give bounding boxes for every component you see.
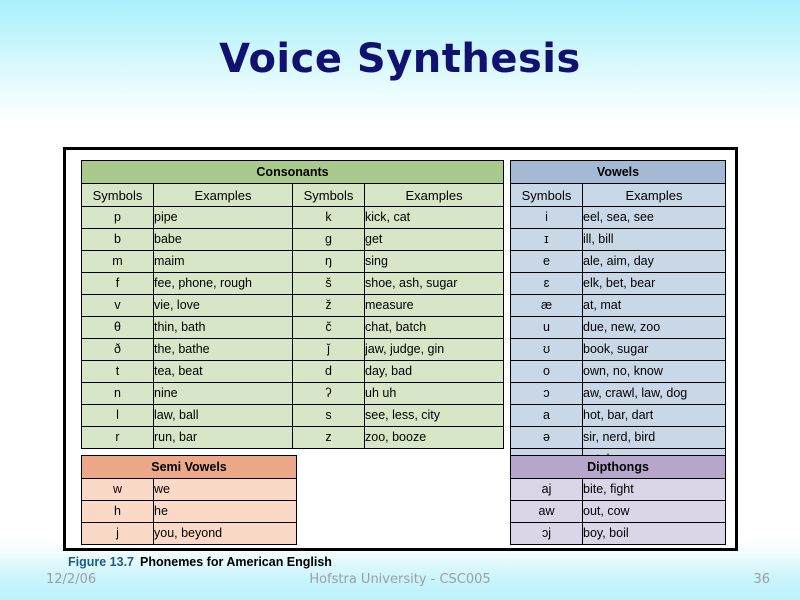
phoneme-examples: he	[154, 501, 297, 523]
consonants-row: llaw, ballssee, less, city	[82, 405, 504, 427]
vowels-row: ʊbook, sugar	[511, 339, 726, 361]
dipthongs-row: ɔjboy, boil	[511, 523, 726, 545]
phoneme-symbol: ǰ	[293, 339, 365, 361]
phoneme-examples: measure	[365, 295, 504, 317]
phoneme-examples: pipe	[154, 207, 293, 229]
dipthongs-row: awout, cow	[511, 501, 726, 523]
phoneme-examples: nine	[154, 383, 293, 405]
phoneme-examples: you, beyond	[154, 523, 297, 545]
phoneme-symbol: u	[511, 317, 583, 339]
phoneme-symbol: k	[293, 207, 365, 229]
semi-vowels-table: Semi Vowels wwehhejyou, beyond	[81, 455, 297, 545]
phoneme-symbol: h	[82, 501, 154, 523]
phoneme-symbol: s	[293, 405, 365, 427]
dipthongs-table: Dipthongs ajbite, fightawout, cowɔjboy, …	[510, 455, 726, 545]
phoneme-symbol: t	[82, 361, 154, 383]
phoneme-symbol: w	[82, 479, 154, 501]
vowels-row: ieel, sea, see	[511, 207, 726, 229]
vowels-row: æat, mat	[511, 295, 726, 317]
consonants-col-symbols-1: Symbols	[82, 184, 154, 207]
phoneme-symbol: n	[82, 383, 154, 405]
page-title: Voice Synthesis	[0, 36, 800, 82]
consonants-table-body: Consonants Symbols Examples Symbols Exam…	[82, 161, 504, 449]
phoneme-symbol: g	[293, 229, 365, 251]
phoneme-symbol: d	[293, 361, 365, 383]
phoneme-symbol: ð	[82, 339, 154, 361]
phoneme-examples: thin, bath	[154, 317, 293, 339]
phoneme-examples: kick, cat	[365, 207, 504, 229]
phoneme-symbol: j	[82, 523, 154, 545]
consonants-table: Consonants Symbols Examples Symbols Exam…	[81, 160, 504, 449]
phoneme-symbol: ə	[511, 427, 583, 449]
consonants-row: rrun, barzzoo, booze	[82, 427, 504, 449]
phoneme-examples: zoo, booze	[365, 427, 504, 449]
phoneme-symbol: m	[82, 251, 154, 273]
phoneme-symbol: æ	[511, 295, 583, 317]
consonants-row: ppipekkick, cat	[82, 207, 504, 229]
consonants-title: Consonants	[82, 161, 504, 184]
phoneme-symbol: ɛ	[511, 273, 583, 295]
phoneme-symbol: ʔ	[293, 383, 365, 405]
phoneme-examples: out, cow	[583, 501, 726, 523]
phoneme-examples: law, ball	[154, 405, 293, 427]
consonants-row: ðthe, batheǰjaw, judge, gin	[82, 339, 504, 361]
figure-caption-label: Figure 13.7	[68, 555, 134, 569]
phoneme-examples: at, mat	[583, 295, 726, 317]
vowels-row: eale, aim, day	[511, 251, 726, 273]
semi-vowels-title: Semi Vowels	[82, 456, 297, 479]
phoneme-symbol: o	[511, 361, 583, 383]
phoneme-examples: ale, aim, day	[583, 251, 726, 273]
phoneme-examples: get	[365, 229, 504, 251]
dipthongs-title-row: Dipthongs	[511, 456, 726, 479]
vowels-table-body: Vowels Symbols Examples ieel, sea, seeɪi…	[511, 161, 726, 471]
phoneme-examples: uh uh	[365, 383, 504, 405]
consonants-title-row: Consonants	[82, 161, 504, 184]
semi-vowels-title-row: Semi Vowels	[82, 456, 297, 479]
footer-page-number: 36	[753, 572, 770, 587]
phoneme-symbol: p	[82, 207, 154, 229]
phoneme-symbol: z	[293, 427, 365, 449]
vowels-col-examples: Examples	[583, 184, 726, 207]
phoneme-examples: run, bar	[154, 427, 293, 449]
phoneme-symbol: ž	[293, 295, 365, 317]
phoneme-symbol: ɔj	[511, 523, 583, 545]
phoneme-examples: chat, batch	[365, 317, 504, 339]
phoneme-symbol: ŋ	[293, 251, 365, 273]
semi-vowels-table-body: Semi Vowels wwehhejyou, beyond	[82, 456, 297, 545]
phoneme-examples: own, no, know	[583, 361, 726, 383]
dipthongs-table-body: Dipthongs ajbite, fightawout, cowɔjboy, …	[511, 456, 726, 545]
phoneme-examples: sir, nerd, bird	[583, 427, 726, 449]
phoneme-examples: ill, bill	[583, 229, 726, 251]
consonants-row: nnineʔuh uh	[82, 383, 504, 405]
phoneme-examples: sing	[365, 251, 504, 273]
figure-caption-text: Phonemes for American English	[140, 555, 332, 569]
vowels-row: ɪill, bill	[511, 229, 726, 251]
consonants-row: ffee, phone, roughšshoe, ash, sugar	[82, 273, 504, 295]
phoneme-symbol: a	[511, 405, 583, 427]
semi-vowels-row: jyou, beyond	[82, 523, 297, 545]
phoneme-symbol: š	[293, 273, 365, 295]
phoneme-examples: bite, fight	[583, 479, 726, 501]
vowels-row: oown, no, know	[511, 361, 726, 383]
dipthongs-row: ajbite, fight	[511, 479, 726, 501]
vowels-row: udue, new, zoo	[511, 317, 726, 339]
consonants-row: vvie, lovežmeasure	[82, 295, 504, 317]
phoneme-examples: due, new, zoo	[583, 317, 726, 339]
phoneme-examples: see, less, city	[365, 405, 504, 427]
phoneme-symbol: ɔ	[511, 383, 583, 405]
phoneme-examples: fee, phone, rough	[154, 273, 293, 295]
consonants-col-symbols-2: Symbols	[293, 184, 365, 207]
consonants-col-examples-1: Examples	[154, 184, 293, 207]
phoneme-symbol: ɪ	[511, 229, 583, 251]
phoneme-symbol: aj	[511, 479, 583, 501]
phoneme-examples: we	[154, 479, 297, 501]
phoneme-symbol: v	[82, 295, 154, 317]
phoneme-examples: elk, bet, bear	[583, 273, 726, 295]
phoneme-symbol: e	[511, 251, 583, 273]
consonants-row: mmaimŋsing	[82, 251, 504, 273]
phoneme-symbol: f	[82, 273, 154, 295]
phoneme-examples: vie, love	[154, 295, 293, 317]
phoneme-examples: book, sugar	[583, 339, 726, 361]
dipthongs-title: Dipthongs	[511, 456, 726, 479]
vowels-table: Vowels Symbols Examples ieel, sea, seeɪi…	[510, 160, 726, 471]
consonants-row: bbabegget	[82, 229, 504, 251]
vowels-row: ahot, bar, dart	[511, 405, 726, 427]
vowels-header-row: Symbols Examples	[511, 184, 726, 207]
phoneme-examples: the, bathe	[154, 339, 293, 361]
consonants-header-row: Symbols Examples Symbols Examples	[82, 184, 504, 207]
phoneme-examples: eel, sea, see	[583, 207, 726, 229]
phoneme-examples: shoe, ash, sugar	[365, 273, 504, 295]
phoneme-symbol: ʊ	[511, 339, 583, 361]
figure-panel: Consonants Symbols Examples Symbols Exam…	[63, 147, 738, 551]
phoneme-examples: hot, bar, dart	[583, 405, 726, 427]
phoneme-examples: boy, boil	[583, 523, 726, 545]
vowels-title-row: Vowels	[511, 161, 726, 184]
phoneme-examples: maim	[154, 251, 293, 273]
phoneme-examples: babe	[154, 229, 293, 251]
phoneme-symbol: i	[511, 207, 583, 229]
phoneme-symbol: b	[82, 229, 154, 251]
consonants-col-examples-2: Examples	[365, 184, 504, 207]
phoneme-symbol: aw	[511, 501, 583, 523]
vowels-title: Vowels	[511, 161, 726, 184]
consonants-row: ttea, beatdday, bad	[82, 361, 504, 383]
phoneme-examples: day, bad	[365, 361, 504, 383]
vowels-row: ɛelk, bet, bear	[511, 273, 726, 295]
phoneme-symbol: r	[82, 427, 154, 449]
semi-vowels-row: wwe	[82, 479, 297, 501]
phoneme-symbol: θ	[82, 317, 154, 339]
footer-institution: Hofstra University - CSC005	[0, 572, 800, 587]
vowels-row: ɔaw, crawl, law, dog	[511, 383, 726, 405]
figure-caption: Figure 13.7Phonemes for American English	[68, 555, 332, 569]
phoneme-examples: jaw, judge, gin	[365, 339, 504, 361]
consonants-row: θthin, bathčchat, batch	[82, 317, 504, 339]
phoneme-symbol: l	[82, 405, 154, 427]
semi-vowels-row: hhe	[82, 501, 297, 523]
phoneme-examples: tea, beat	[154, 361, 293, 383]
phoneme-symbol: č	[293, 317, 365, 339]
vowels-row: əsir, nerd, bird	[511, 427, 726, 449]
vowels-col-symbols: Symbols	[511, 184, 583, 207]
slide-background: Voice Synthesis Consonants Symbols Examp…	[0, 0, 800, 600]
phoneme-examples: aw, crawl, law, dog	[583, 383, 726, 405]
